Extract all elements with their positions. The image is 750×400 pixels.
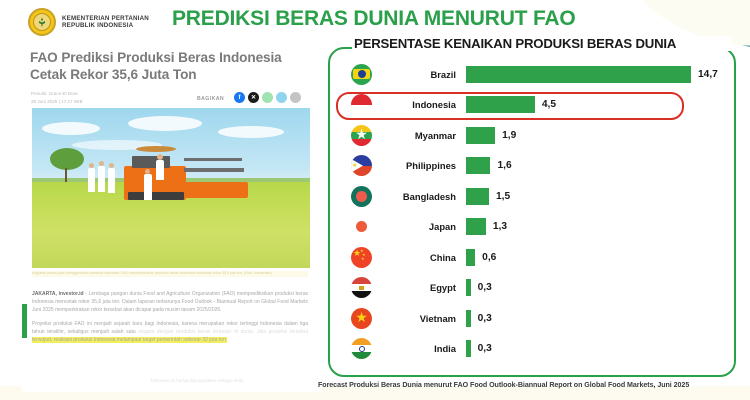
value-bar [466,188,489,205]
article-photo [32,108,310,268]
ministry-name-line1: KEMENTERIAN PERTANIAN [62,15,149,22]
article-paragraph-1: JAKARTA, investor.id - Lembaga pangan du… [32,290,308,314]
country-label: Philippines [378,160,456,171]
country-label: Myanmar [378,130,456,141]
value-bar [466,249,475,266]
chart-row: ★ ★ ★ ★China0,6 [338,242,726,273]
bangladesh-flag [351,186,372,207]
ministry-seal-icon [28,8,56,36]
dateline: JAKARTA, investor.id [32,291,84,297]
copy-link-icon[interactable] [290,92,301,103]
value-label: 1,9 [502,130,516,141]
telegram-icon[interactable] [276,92,287,103]
value-bar [466,218,486,235]
chart-row: ★Vietnam0,3 [338,303,726,334]
ministry-name-line2: REPUBLIK INDONESIA [62,22,149,29]
paragraph-2-highlighted: terwujud, realisasi produksi Indonesia m… [32,337,227,343]
country-label: Bangladesh [378,191,456,202]
value-label: 1,3 [493,221,507,232]
country-label: Egypt [378,282,456,293]
article-headline: FAO Prediksi Produksi Beras Indonesia Ce… [30,49,310,84]
indonesia-flag [351,94,372,115]
bar-area: 1,9 [466,127,726,144]
chart-row: India0,3 [338,334,726,365]
value-bar [466,310,471,327]
value-label: 0,6 [482,252,496,263]
bar-area: 0,3 [466,279,726,296]
india-flag [351,338,372,359]
china-flag: ★ ★ ★ ★ [351,247,372,268]
value-bar [466,157,490,174]
bar-area: 1,3 [466,218,726,235]
philippines-flag: ★ [351,155,372,176]
bar-area: 14,7 [466,66,726,83]
egypt-flag [351,277,372,298]
bar-area: 1,5 [466,188,726,205]
chart-row: Indonesia4,5 [338,90,726,121]
chart-row: Egypt0,3 [338,273,726,304]
chart-rows: Brazil14,7 Indonesia4,5 ★Myanmar1,9 ★Phi… [338,59,726,364]
article-watermark: Dokumen ini hanya dipergunakan sebagai a… [82,378,312,383]
x-twitter-icon[interactable]: ✕ [248,92,259,103]
brazil-flag [351,64,372,85]
country-label: India [378,343,456,354]
photo-caption: Kegiatan panen padi menggunakan combine … [32,271,308,277]
country-label: Japan [378,221,456,232]
value-label: 0,3 [478,282,492,293]
whatsapp-icon[interactable] [262,92,273,103]
ministry-logo-block: KEMENTERIAN PERTANIAN REPUBLIK INDONESIA [28,8,149,36]
social-share-buttons[interactable]: f ✕ [234,92,301,103]
chart-row: Bangladesh1,5 [338,181,726,212]
country-label: Indonesia [378,99,456,110]
value-label: 14,7 [698,69,718,80]
value-label: 0,3 [478,343,492,354]
value-label: 1,6 [497,160,511,171]
article-author: Penulis: Grace El Dora [31,90,161,98]
chart-row: ★Myanmar1,9 [338,120,726,151]
paragraph-2-text-faint: negara dengan produksi beras terbesar di… [138,329,308,335]
chart-row: ★Philippines1,6 [338,151,726,182]
article-body: JAKARTA, investor.id - Lembaga pangan du… [32,290,308,351]
value-bar [466,340,471,357]
share-label: BAGIKAN [197,96,224,102]
chart-row: Japan1,3 [338,212,726,243]
facebook-icon[interactable]: f [234,92,245,103]
bar-area: 1,6 [466,157,726,174]
value-bar [466,127,495,144]
chart-title: PERSENTASE KENAIKAN PRODUKSI BERAS DUNIA [352,36,732,51]
article-byline: Penulis: Grace El Dora 28 Juni 2025 | 17… [31,90,161,106]
value-bar [466,96,535,113]
value-label: 0,3 [478,313,492,324]
page-title: PREDIKSI BERAS DUNIA MENURUT FAO [172,7,576,31]
myanmar-flag: ★ [351,125,372,146]
chart-card: Brazil14,7 Indonesia4,5 ★Myanmar1,9 ★Phi… [328,47,736,377]
bar-area: 4,5 [466,96,726,113]
bar-area: 0,3 [466,310,726,327]
chart-row: Brazil14,7 [338,59,726,90]
value-bar [466,279,471,296]
country-label: China [378,252,456,263]
chart-footnote: Forecast Produksi Beras Dunia menurut FA… [318,381,743,389]
country-label: Brazil [378,69,456,80]
value-bar [466,66,691,83]
japan-flag [351,216,372,237]
article-paragraph-2: Proyeksi produksi FAO ini menjadi sejara… [32,320,308,344]
article-date: 28 Juni 2025 | 17:17 WIB [31,98,161,106]
country-label: Vietnam [378,313,456,324]
bar-area: 0,6 [466,249,726,266]
article-accent-tab [22,304,27,338]
value-label: 4,5 [542,99,556,110]
value-label: 1,5 [496,191,510,202]
vietnam-flag: ★ [351,308,372,329]
article-screenshot-panel: FAO Prediksi Produksi Beras Indonesia Ce… [22,40,322,392]
bar-area: 0,3 [466,340,726,357]
